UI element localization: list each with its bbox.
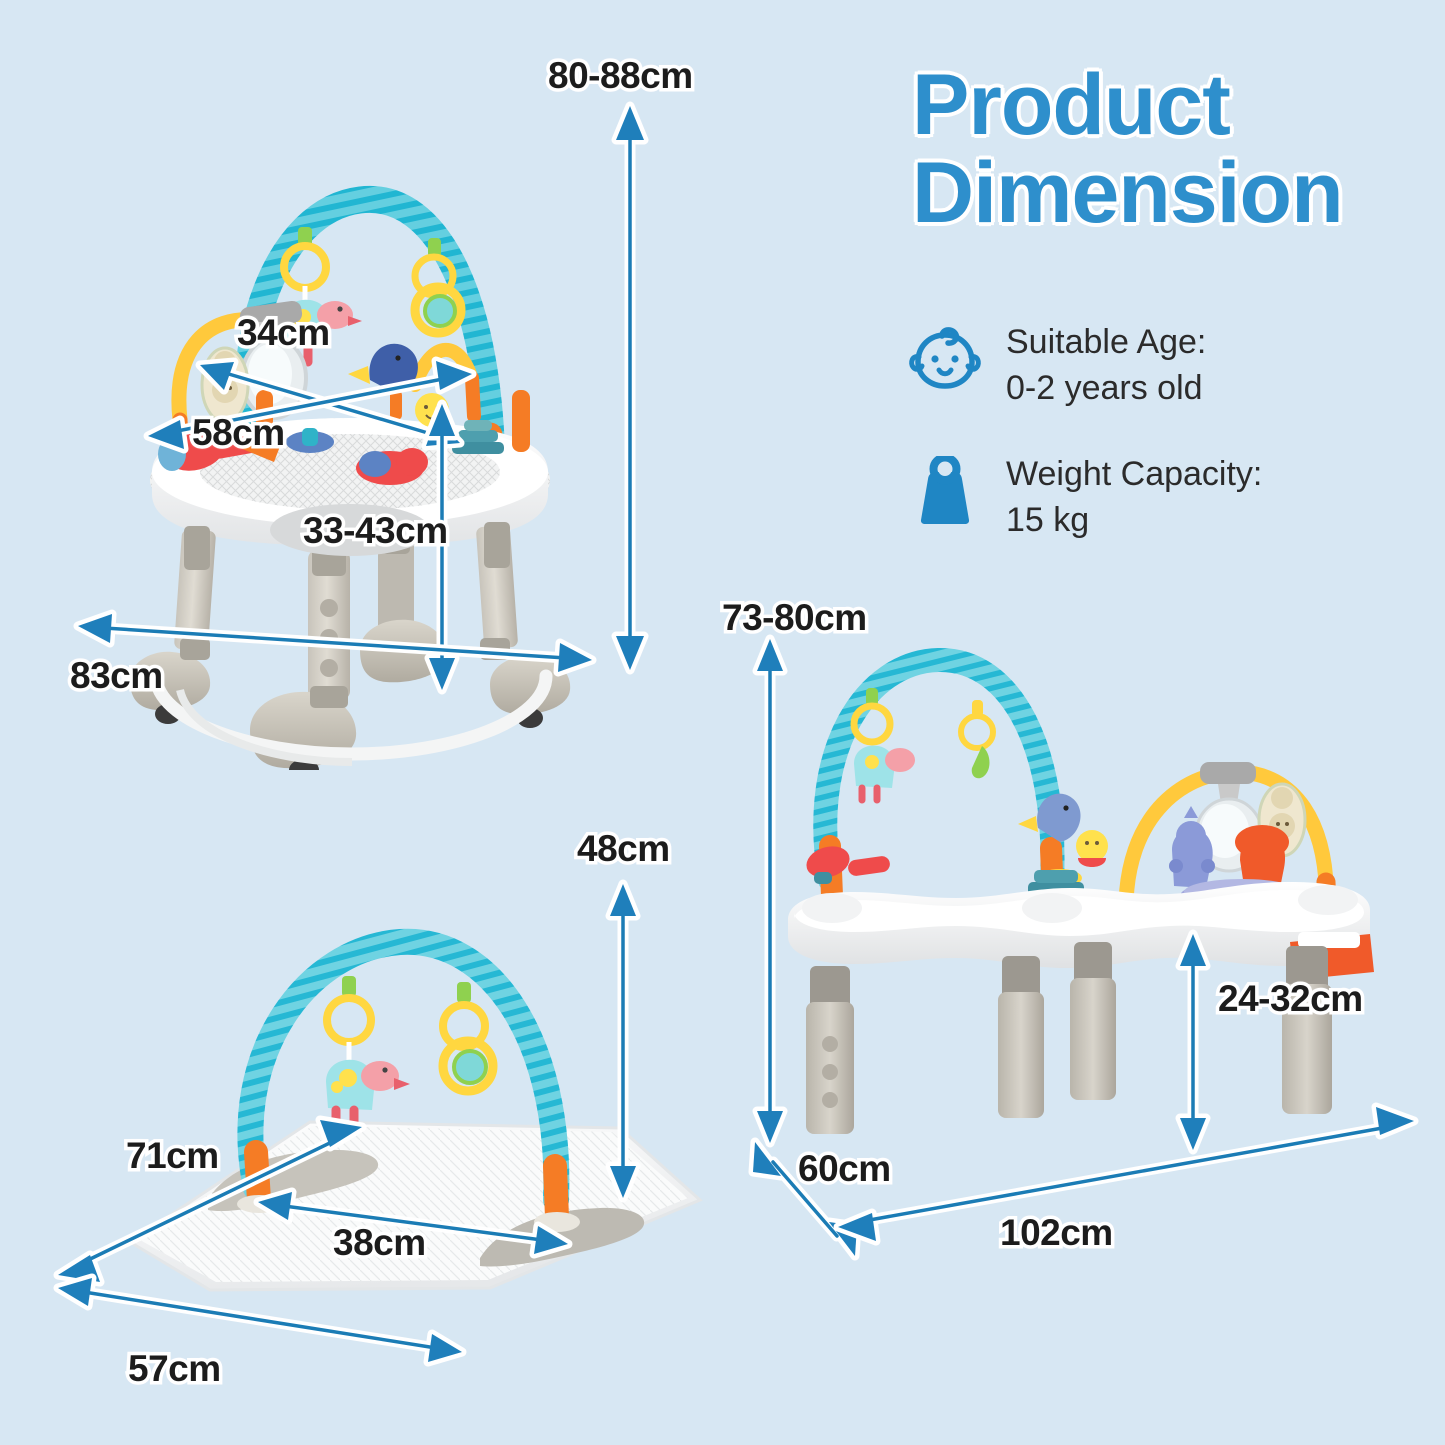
spec-weight-capacity-value: 15 kg	[1006, 498, 1262, 544]
baby-face-icon	[908, 320, 982, 394]
page-title: Product Dimension	[912, 62, 1432, 237]
label-mat-width: 57cm	[128, 1348, 221, 1390]
arrow-table-arch-height	[742, 635, 812, 1155]
label-walker-tray-width: 58cm	[192, 412, 285, 454]
label-mat-arch-height: 48cm	[577, 828, 670, 870]
spec-suitable-age: Suitable Age: 0-2 years old	[908, 320, 1206, 411]
page-title-line2: Dimension	[912, 150, 1432, 238]
label-walker-tray-depth: 34cm	[237, 312, 330, 354]
label-mat-diagonal: 71cm	[126, 1135, 219, 1177]
label-mat-inner-width: 38cm	[333, 1222, 426, 1264]
spec-suitable-age-label: Suitable Age:	[1006, 320, 1206, 366]
spec-weight-capacity-text: Weight Capacity: 15 kg	[1006, 452, 1262, 543]
label-table-depth: 60cm	[798, 1148, 891, 1190]
arrow-walker-height	[600, 100, 680, 680]
label-walker-base-width: 83cm	[70, 655, 163, 697]
arrow-mat-width	[50, 1270, 470, 1380]
spec-weight-capacity-label: Weight Capacity:	[1006, 452, 1262, 498]
spec-suitable-age-text: Suitable Age: 0-2 years old	[1006, 320, 1206, 411]
page-title-line1: Product	[912, 62, 1432, 150]
label-table-top-height: 24-32cm	[1218, 978, 1363, 1020]
label-table-width: 102cm	[1000, 1212, 1113, 1254]
arrow-table-width	[830, 1095, 1430, 1255]
label-table-arch-height: 73-80cm	[722, 597, 867, 639]
infographic-canvas: Product Dimension Suitable Age: 0-2 year…	[0, 0, 1445, 1445]
weight-icon	[908, 452, 982, 526]
spec-weight-capacity: Weight Capacity: 15 kg	[908, 452, 1262, 543]
label-walker-seat-height: 33-43cm	[303, 510, 448, 552]
label-walker-height: 80-88cm	[548, 55, 693, 97]
arrow-mat-arch-height	[595, 880, 665, 1210]
spec-suitable-age-value: 0-2 years old	[1006, 366, 1206, 412]
